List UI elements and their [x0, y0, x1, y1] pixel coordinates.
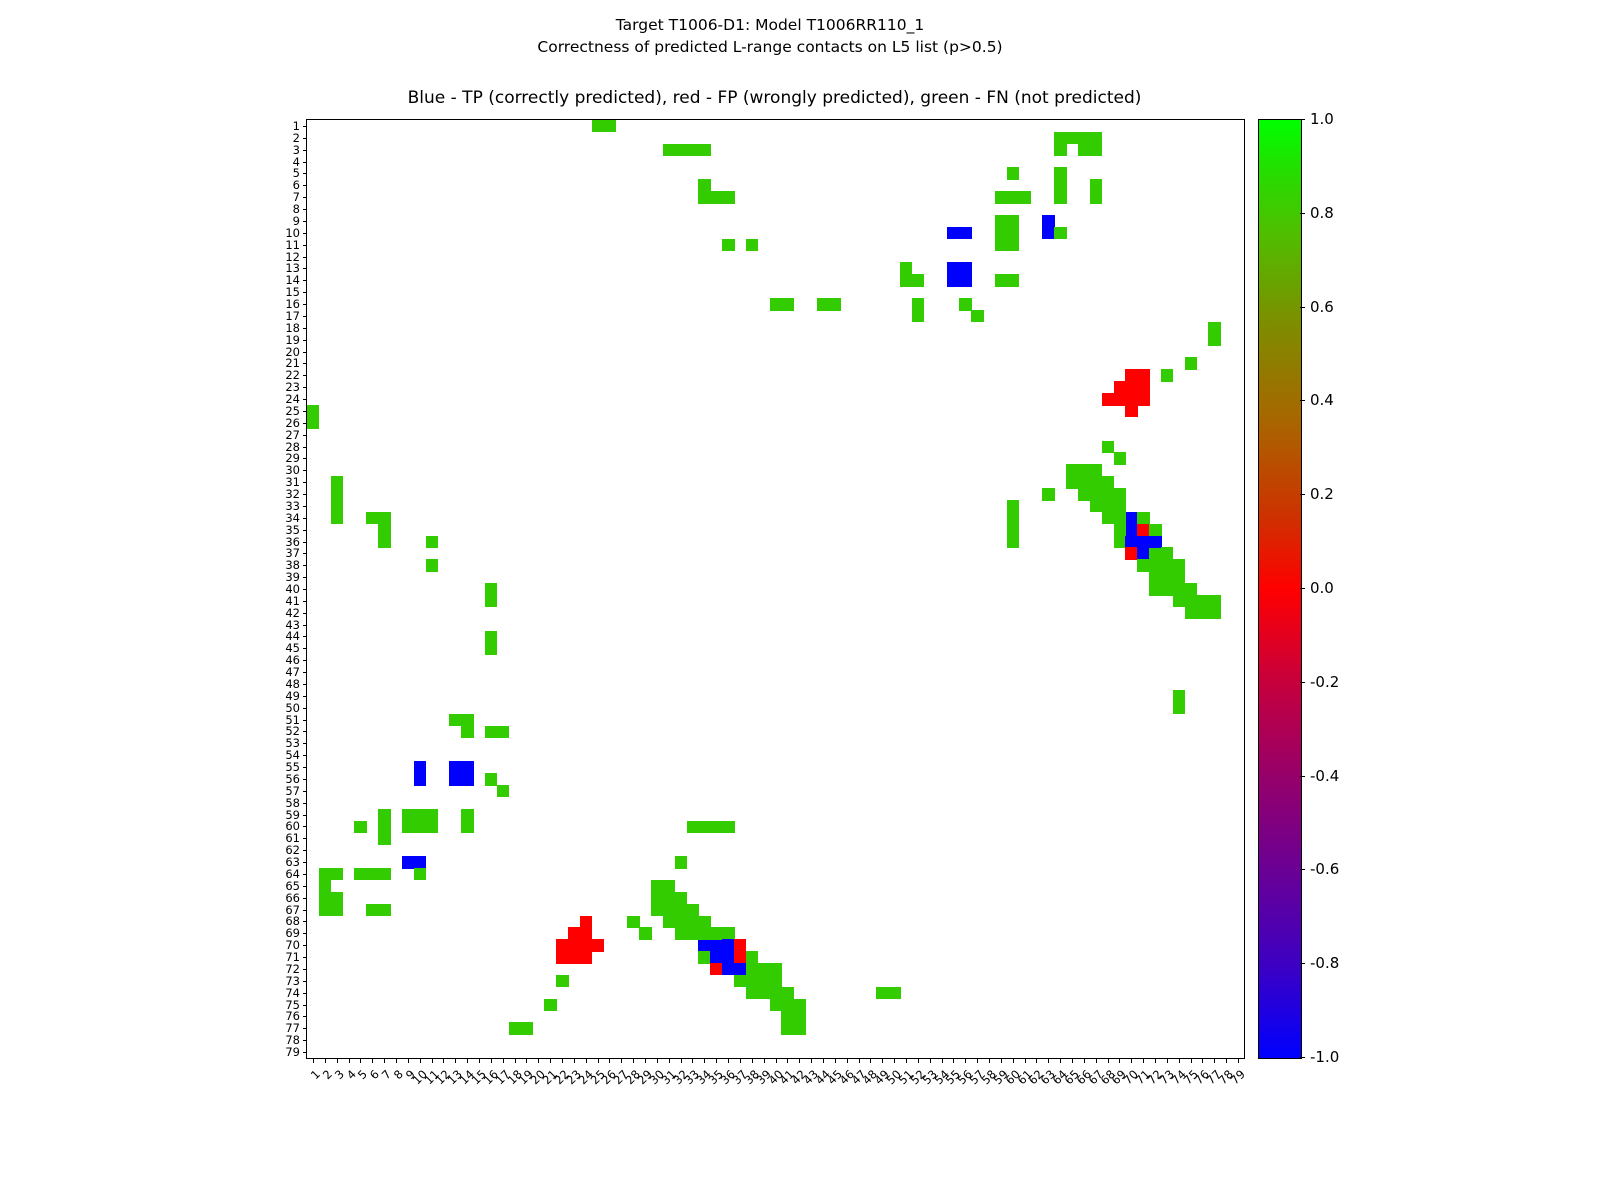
y-tick-mark [303, 708, 307, 709]
heatmap-cell [378, 512, 390, 524]
heatmap-cell [1173, 702, 1185, 714]
heatmap-cell [1173, 583, 1185, 595]
heatmap-cell [698, 179, 710, 191]
y-tick-mark [303, 993, 307, 994]
heatmap-cell [698, 821, 710, 833]
heatmap-cell [793, 1011, 805, 1023]
heatmap-cell [1125, 405, 1137, 417]
x-tick-mark [894, 1059, 895, 1063]
heatmap-cell [461, 714, 473, 726]
heatmap-cell [1149, 536, 1161, 548]
colorbar-tick-mark [1300, 588, 1305, 589]
heatmap-cell [651, 904, 663, 916]
x-tick-mark [467, 1059, 468, 1063]
y-tick-mark [303, 826, 307, 827]
heatmap-cell [319, 904, 331, 916]
heatmap-cell [378, 524, 390, 536]
heatmap-cell [746, 987, 758, 999]
heatmap-cell [1114, 452, 1126, 464]
colorbar-tick-label: -1.0 [1310, 1048, 1339, 1066]
colorbar-tick-label: -0.2 [1310, 673, 1339, 691]
heatmap-cell [1090, 464, 1102, 476]
y-tick-mark [303, 280, 307, 281]
y-tick-mark [303, 815, 307, 816]
heatmap-cell [663, 880, 675, 892]
heatmap-cell [520, 1022, 532, 1034]
heatmap-cell [366, 868, 378, 880]
x-tick-mark [752, 1059, 753, 1063]
heatmap-cell [698, 939, 710, 951]
x-tick-mark [692, 1059, 693, 1063]
heatmap-cell [319, 892, 331, 904]
x-tick-mark [764, 1059, 765, 1063]
heatmap-cell [687, 821, 699, 833]
colorbar-tick-label: -0.6 [1310, 860, 1339, 878]
heatmap-cell [781, 999, 793, 1011]
heatmap-cell [331, 500, 343, 512]
heatmap-cell [1185, 595, 1197, 607]
heatmap-cell [1078, 132, 1090, 144]
heatmap-cell [449, 761, 461, 773]
y-tick-mark [303, 435, 307, 436]
y-tick-mark [303, 933, 307, 934]
heatmap-cell [1007, 524, 1019, 536]
x-tick-mark [1119, 1059, 1120, 1063]
contact-map-plot-area[interactable]: 1234567891011121314151617181920212223242… [306, 119, 1245, 1059]
x-tick-mark [1072, 1059, 1073, 1063]
y-tick-mark [303, 292, 307, 293]
heatmap-cell [1102, 476, 1114, 488]
x-tick-mark [728, 1059, 729, 1063]
heatmap-cell [319, 880, 331, 892]
heatmap-cell [1078, 476, 1090, 488]
heatmap-cell [461, 809, 473, 821]
heatmap-cell [710, 939, 722, 951]
heatmap-cell [1137, 524, 1149, 536]
heatmap-cell [319, 868, 331, 880]
colorbar-tick-label: 1.0 [1310, 110, 1334, 128]
y-tick-mark [303, 352, 307, 353]
heatmap-cell [461, 761, 473, 773]
y-tick-mark [303, 945, 307, 946]
x-tick-mark [372, 1059, 373, 1063]
heatmap-cell [710, 951, 722, 963]
x-tick-mark [1048, 1059, 1049, 1063]
figure-canvas: Target T1006-D1: Model T1006RR110_1 Corr… [0, 0, 1600, 1200]
heatmap-cell [687, 916, 699, 928]
heatmap-cell [947, 262, 959, 274]
y-tick-mark [303, 731, 307, 732]
heatmap-cell [900, 274, 912, 286]
heatmap-cell [1102, 500, 1114, 512]
heatmap-cell [1102, 441, 1114, 453]
heatmap-cell [770, 999, 782, 1011]
y-tick-mark [303, 1005, 307, 1006]
heatmap-cell [722, 239, 734, 251]
heatmap-cell [675, 856, 687, 868]
heatmap-cell [1114, 512, 1126, 524]
y-tick-mark [303, 482, 307, 483]
heatmap-cell [1007, 536, 1019, 548]
heatmap-cell [1125, 393, 1137, 405]
heatmap-cell [485, 595, 497, 607]
heatmap-cell [1208, 322, 1220, 334]
heatmap-cell [580, 916, 592, 928]
heatmap-cell [912, 274, 924, 286]
heatmap-cell [461, 821, 473, 833]
y-tick-mark [303, 957, 307, 958]
heatmap-cell [1173, 595, 1185, 607]
x-tick-mark [977, 1059, 978, 1063]
heatmap-cell [331, 904, 343, 916]
colorbar-tick-label: 0.2 [1310, 485, 1334, 503]
y-tick-mark [303, 268, 307, 269]
heatmap-cell [675, 892, 687, 904]
heatmap-cell [449, 714, 461, 726]
y-tick-mark [303, 743, 307, 744]
x-tick-mark [870, 1059, 871, 1063]
heatmap-cell [414, 773, 426, 785]
heatmap-cell [1090, 476, 1102, 488]
x-tick-mark [1167, 1059, 1168, 1063]
y-tick-mark [303, 411, 307, 412]
heatmap-cell [331, 476, 343, 488]
heatmap-cell [639, 927, 651, 939]
heatmap-cell [1114, 393, 1126, 405]
heatmap-cell [485, 642, 497, 654]
x-tick-mark [598, 1059, 599, 1063]
heatmap-cell [1137, 536, 1149, 548]
x-tick-mark [1238, 1059, 1239, 1063]
heatmap-cell [354, 821, 366, 833]
x-tick-mark [574, 1059, 575, 1063]
x-tick-mark [930, 1059, 931, 1063]
heatmap-cell [1114, 524, 1126, 536]
y-tick-mark [303, 1040, 307, 1041]
y-tick-mark [303, 1016, 307, 1017]
heatmap-cell [698, 916, 710, 928]
heatmap-cell [781, 1011, 793, 1023]
colorbar-tick-mark [1300, 682, 1305, 683]
y-tick-mark [303, 363, 307, 364]
y-tick-mark [303, 862, 307, 863]
heatmap-cell [1054, 144, 1066, 156]
y-tick-mark [303, 518, 307, 519]
heatmap-cell [627, 916, 639, 928]
y-tick-mark [303, 969, 307, 970]
heatmap-cell [544, 999, 556, 1011]
x-tick-mark [645, 1059, 646, 1063]
heatmap-cell [1007, 215, 1019, 227]
heatmap-cell [426, 559, 438, 571]
x-tick-mark [1202, 1059, 1203, 1063]
x-tick-mark [1096, 1059, 1097, 1063]
heatmap-cell [402, 821, 414, 833]
x-tick-mark [1025, 1059, 1026, 1063]
heatmap-cell [1137, 393, 1149, 405]
heatmap-cell [461, 726, 473, 738]
heatmap-cell [675, 904, 687, 916]
heatmap-cell [722, 821, 734, 833]
heatmap-cell [1078, 144, 1090, 156]
heatmap-cell [414, 821, 426, 833]
heatmap-cell [663, 144, 675, 156]
heatmap-cell [675, 144, 687, 156]
x-tick-mark [799, 1059, 800, 1063]
colorbar-tick-mark [1300, 494, 1305, 495]
heatmap-cell [1137, 512, 1149, 524]
heatmap-cell [1114, 381, 1126, 393]
heatmap-cell [722, 927, 734, 939]
heatmap-cell [1007, 227, 1019, 239]
heatmap-cell [947, 227, 959, 239]
heatmap-cell [722, 951, 734, 963]
heatmap-cell [461, 773, 473, 785]
x-tick-mark [1143, 1059, 1144, 1063]
x-tick-mark [633, 1059, 634, 1063]
y-tick-mark [303, 850, 307, 851]
y-tick-mark [303, 838, 307, 839]
heatmap-cell [1125, 512, 1137, 524]
heatmap-cell [1090, 179, 1102, 191]
heatmap-cell [959, 298, 971, 310]
heatmap-cell [556, 975, 568, 987]
heatmap-cell [781, 298, 793, 310]
x-tick-mark [360, 1059, 361, 1063]
heatmap-cell [485, 583, 497, 595]
x-tick-mark [811, 1059, 812, 1063]
heatmap-cell [1042, 227, 1054, 239]
colorbar-tick-mark [1300, 307, 1305, 308]
x-tick-mark [1036, 1059, 1037, 1063]
y-tick-mark [303, 304, 307, 305]
y-tick-mark [303, 340, 307, 341]
heatmap-cell [995, 191, 1007, 203]
y-tick-mark [303, 197, 307, 198]
heatmap-cell [722, 963, 734, 975]
y-tick-mark [303, 375, 307, 376]
heatmap-cell [758, 987, 770, 999]
heatmap-cell [698, 951, 710, 963]
heatmap-cell [1137, 381, 1149, 393]
x-tick-mark [420, 1059, 421, 1063]
colorbar-tick-mark [1300, 869, 1305, 870]
heatmap-cell [876, 987, 888, 999]
heatmap-cell [354, 868, 366, 880]
heatmap-cell [1125, 369, 1137, 381]
x-tick-mark [918, 1059, 919, 1063]
y-tick-mark [303, 530, 307, 531]
heatmap-cell [1042, 488, 1054, 500]
heatmap-cell [687, 904, 699, 916]
x-tick-mark [609, 1059, 610, 1063]
y-tick-mark [303, 221, 307, 222]
x-tick-mark [882, 1059, 883, 1063]
y-tick-mark [303, 696, 307, 697]
x-tick-mark [538, 1059, 539, 1063]
heatmap-cell [698, 144, 710, 156]
heatmap-cell [378, 904, 390, 916]
heatmap-cell [426, 536, 438, 548]
heatmap-cell [734, 939, 746, 951]
x-tick-mark [1013, 1059, 1014, 1063]
heatmap-cell [1114, 536, 1126, 548]
heatmap-cell [1054, 179, 1066, 191]
heatmap-cell [1066, 132, 1078, 144]
heatmap-cell [663, 904, 675, 916]
heatmap-cell [1149, 559, 1161, 571]
heatmap-cell [1149, 524, 1161, 536]
heatmap-cell [1102, 512, 1114, 524]
y-tick-mark [303, 601, 307, 602]
colorbar-tick-mark [1300, 963, 1305, 964]
colorbar-tick-mark [1300, 119, 1305, 120]
heatmap-cell [1208, 595, 1220, 607]
heatmap-cell [580, 927, 592, 939]
y-tick-mark [303, 636, 307, 637]
x-tick-mark [586, 1059, 587, 1063]
x-tick-mark [1131, 1059, 1132, 1063]
heatmap-cell [307, 417, 319, 429]
x-tick-mark [550, 1059, 551, 1063]
heatmap-cell [1054, 167, 1066, 179]
heatmap-cell [687, 144, 699, 156]
y-tick-label: 79 [259, 1045, 300, 1059]
y-tick-mark [303, 209, 307, 210]
y-tick-mark [303, 886, 307, 887]
heatmap-cell [1090, 488, 1102, 500]
heatmap-cell [414, 809, 426, 821]
y-tick-mark [303, 565, 307, 566]
y-tick-mark [303, 613, 307, 614]
y-tick-mark [303, 328, 307, 329]
x-tick-mark [408, 1059, 409, 1063]
y-tick-mark [303, 648, 307, 649]
heatmap-cell [817, 298, 829, 310]
colorbar-tick-label: 0.6 [1310, 298, 1334, 316]
heatmap-cell [378, 868, 390, 880]
colorbar-tick-mark [1300, 213, 1305, 214]
heatmap-cell [912, 310, 924, 322]
heatmap-cell [568, 951, 580, 963]
heatmap-cell [651, 892, 663, 904]
y-tick-mark [303, 791, 307, 792]
heatmap-cell [1054, 132, 1066, 144]
heatmap-cell [1007, 274, 1019, 286]
heatmap-cell [710, 927, 722, 939]
y-tick-mark [303, 470, 307, 471]
x-tick-mark [349, 1059, 350, 1063]
x-tick-mark [384, 1059, 385, 1063]
y-tick-mark [303, 553, 307, 554]
heatmap-cell [331, 512, 343, 524]
colorbar-tick-mark [1300, 400, 1305, 401]
heatmap-cell [580, 951, 592, 963]
heatmap-cell [307, 405, 319, 417]
y-tick-mark [303, 1028, 307, 1029]
y-tick-mark [303, 672, 307, 673]
heatmap-cell [1137, 369, 1149, 381]
heatmap-cell [1090, 144, 1102, 156]
y-tick-mark [303, 387, 307, 388]
x-tick-mark [1108, 1059, 1109, 1063]
x-tick-mark [859, 1059, 860, 1063]
y-tick-mark [303, 910, 307, 911]
x-tick-mark [325, 1059, 326, 1063]
y-tick-mark [303, 138, 307, 139]
heatmap-cell [746, 951, 758, 963]
x-tick-mark [669, 1059, 670, 1063]
heatmap-cell [402, 809, 414, 821]
heatmap-cell [1007, 512, 1019, 524]
y-tick-mark [303, 447, 307, 448]
x-tick-mark [455, 1059, 456, 1063]
y-tick-mark [303, 874, 307, 875]
heatmap-cell [556, 951, 568, 963]
heatmap-cell [331, 868, 343, 880]
heatmap-cell [888, 987, 900, 999]
colorbar-tick-label: 0.0 [1310, 579, 1334, 597]
heatmap-cell [770, 298, 782, 310]
heatmap-cell [1078, 464, 1090, 476]
colorbar-tick-mark [1300, 1057, 1305, 1058]
heatmap-cell [592, 939, 604, 951]
heatmap-cell [1114, 500, 1126, 512]
heatmap-cell [485, 631, 497, 643]
colorbar-tick-mark [1300, 776, 1305, 777]
y-tick-mark [303, 1052, 307, 1053]
heatmap-cell [734, 963, 746, 975]
heatmap-cell [1161, 583, 1173, 595]
heatmap-cell [746, 975, 758, 987]
x-tick-mark [776, 1059, 777, 1063]
heatmap-cell [1208, 334, 1220, 346]
heatmap-cell [1149, 583, 1161, 595]
y-tick-mark [303, 803, 307, 804]
heatmap-cell [710, 191, 722, 203]
x-tick-mark [1191, 1059, 1192, 1063]
y-tick-mark [303, 173, 307, 174]
x-tick-mark [906, 1059, 907, 1063]
heatmap-cell [959, 262, 971, 274]
heatmap-cell [1149, 571, 1161, 583]
x-tick-mark [562, 1059, 563, 1063]
heatmap-cell [675, 916, 687, 928]
heatmap-cell [1102, 488, 1114, 500]
heatmap-cell [959, 227, 971, 239]
heatmap-cell [663, 916, 675, 928]
heatmap-cell [722, 191, 734, 203]
heatmap-cell [1007, 239, 1019, 251]
x-tick-mark [704, 1059, 705, 1063]
y-tick-mark [303, 245, 307, 246]
heatmap-cell [758, 963, 770, 975]
heatmap-cell [1149, 547, 1161, 559]
x-tick-mark [1179, 1059, 1180, 1063]
y-tick-mark [303, 981, 307, 982]
heatmap-cell [1185, 583, 1197, 595]
y-tick-mark [303, 458, 307, 459]
heatmap-cells-layer [307, 120, 1244, 1058]
heatmap-cell [1125, 381, 1137, 393]
heatmap-cell [1208, 607, 1220, 619]
y-tick-mark [303, 506, 307, 507]
heatmap-cell [1007, 500, 1019, 512]
heatmap-cell [1125, 524, 1137, 536]
y-tick-mark [303, 257, 307, 258]
heatmap-cell [1090, 132, 1102, 144]
heatmap-cell [1125, 536, 1137, 548]
